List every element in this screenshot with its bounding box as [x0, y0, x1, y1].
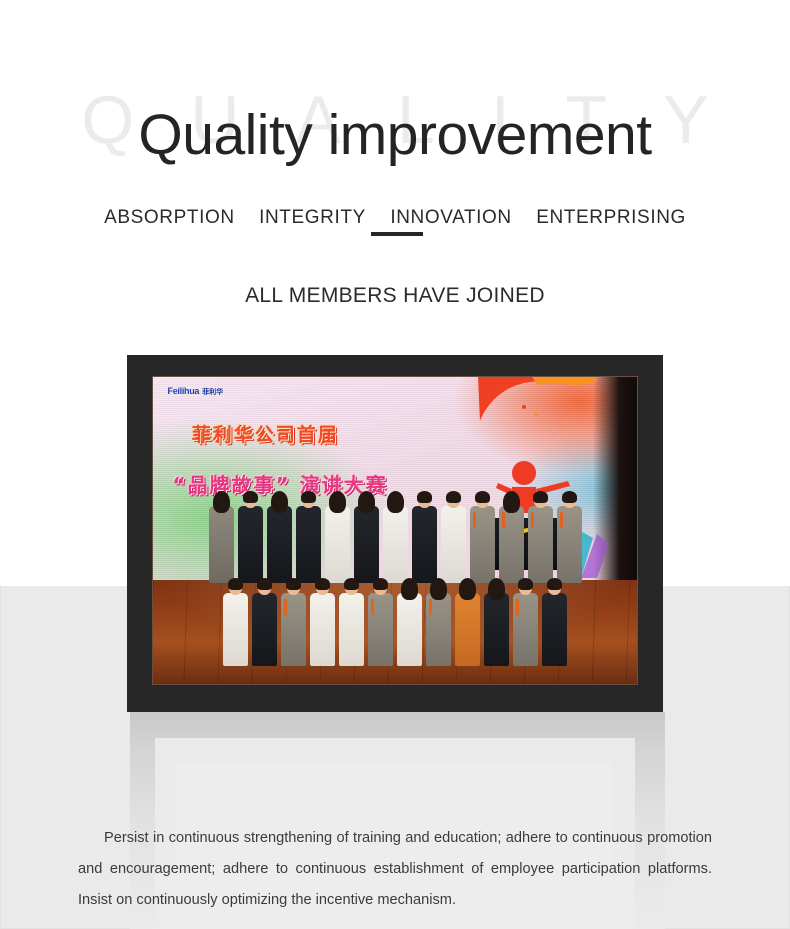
nav-item-integrity[interactable]: INTEGRITY [259, 205, 366, 231]
person [527, 493, 554, 583]
person [396, 580, 423, 666]
person [266, 493, 293, 583]
banner-headline-line1: 菲利华公司首届 [192, 420, 339, 447]
person [541, 580, 568, 666]
logo-latin: Feilihua [168, 386, 200, 396]
group-photo: Feilihua菲利华 菲利华公司首届 “品牌故事” 演讲大赛 [153, 377, 637, 684]
person [440, 493, 467, 583]
quality-improvement-page: QUALITY Quality improvement ABSORPTION I… [0, 0, 790, 929]
people-row-back [153, 493, 637, 583]
logo-chinese: 菲利华 [202, 387, 223, 397]
person [454, 580, 481, 666]
person [324, 493, 351, 583]
feilihua-logo: Feilihua菲利华 [168, 386, 224, 397]
person [367, 580, 394, 666]
nav-item-absorption[interactable]: ABSORPTION [104, 205, 235, 231]
photo-frame: Feilihua菲利华 菲利华公司首届 “品牌故事” 演讲大赛 [127, 355, 663, 712]
person [280, 580, 307, 666]
page-header: QUALITY Quality improvement ABSORPTION I… [0, 0, 790, 330]
person [556, 493, 583, 583]
people-row-front [153, 580, 637, 666]
person [353, 493, 380, 583]
person [309, 580, 336, 666]
page-subtitle: ALL MEMBERS HAVE JOINED [0, 284, 790, 308]
section-nav: ABSORPTION INTEGRITY INNOVATION ENTERPRI… [0, 205, 790, 231]
nav-item-innovation[interactable]: INNOVATION [390, 205, 511, 231]
person [338, 580, 365, 666]
nav-item-enterprising[interactable]: ENTERPRISING [536, 205, 686, 231]
person [295, 493, 322, 583]
person [469, 493, 496, 583]
splash-graphic-icon [478, 377, 598, 423]
person [208, 493, 235, 583]
person [411, 493, 438, 583]
person [425, 580, 452, 666]
person [382, 493, 409, 583]
page-title: Quality improvement [0, 106, 790, 166]
person [483, 580, 510, 666]
title-block: QUALITY Quality improvement [0, 68, 790, 178]
person [498, 493, 525, 583]
active-nav-underline [371, 232, 423, 236]
person [237, 493, 264, 583]
person [222, 580, 249, 666]
person [512, 580, 539, 666]
person [251, 580, 278, 666]
caption-text: Persist in continuous strengthening of t… [78, 823, 712, 916]
